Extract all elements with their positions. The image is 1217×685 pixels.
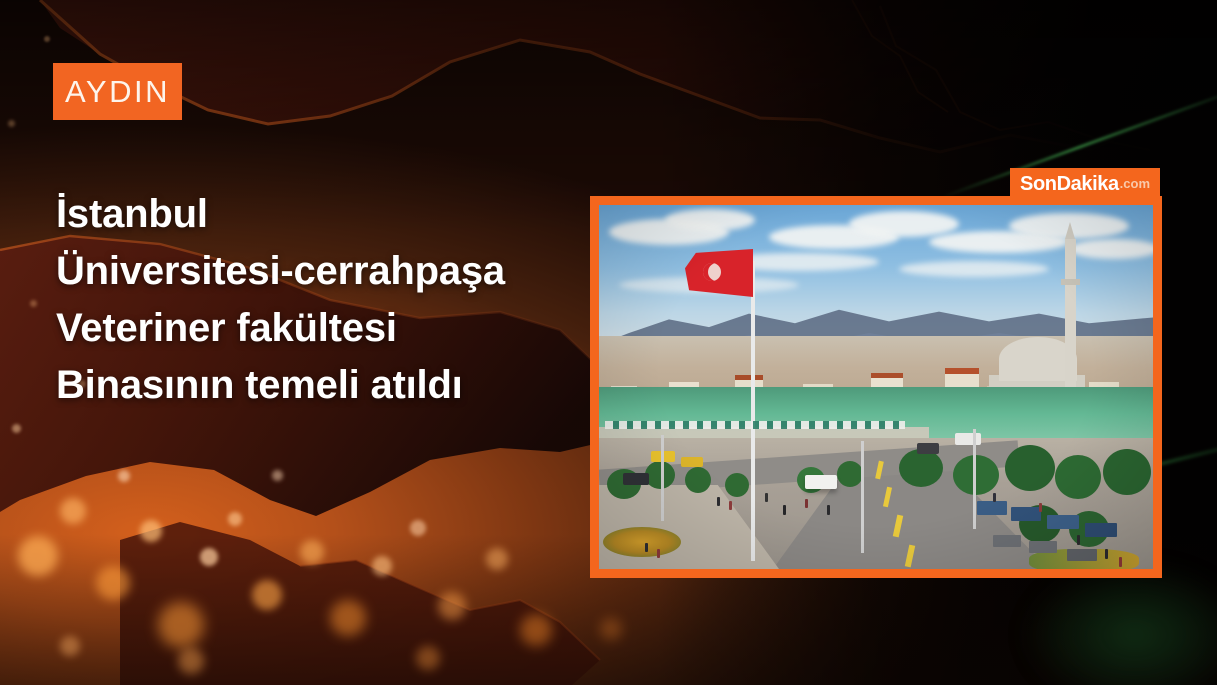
news-graphic-canvas: AYDIN İstanbul Üniversitesi-cerrahpaşa V… [0,0,1217,685]
headline-line-1: İstanbul [56,186,616,243]
photo-vignette [599,205,1153,569]
city-badge: AYDIN [53,63,182,120]
headline: İstanbul Üniversitesi-cerrahpaşa Veterin… [56,186,616,414]
headline-line-2: Üniversitesi-cerrahpaşa [56,243,616,300]
photo-image [599,205,1153,569]
photo-card [590,196,1162,578]
city-badge-label: AYDIN [65,76,170,107]
headline-line-4: Binasının temeli atıldı [56,357,616,414]
headline-line-3: Veteriner fakültesi [56,300,616,357]
watermark-suffix: .com [1120,177,1150,190]
watermark-logo: SonDakika .com [1010,168,1160,199]
watermark-name: SonDakika [1020,174,1119,194]
